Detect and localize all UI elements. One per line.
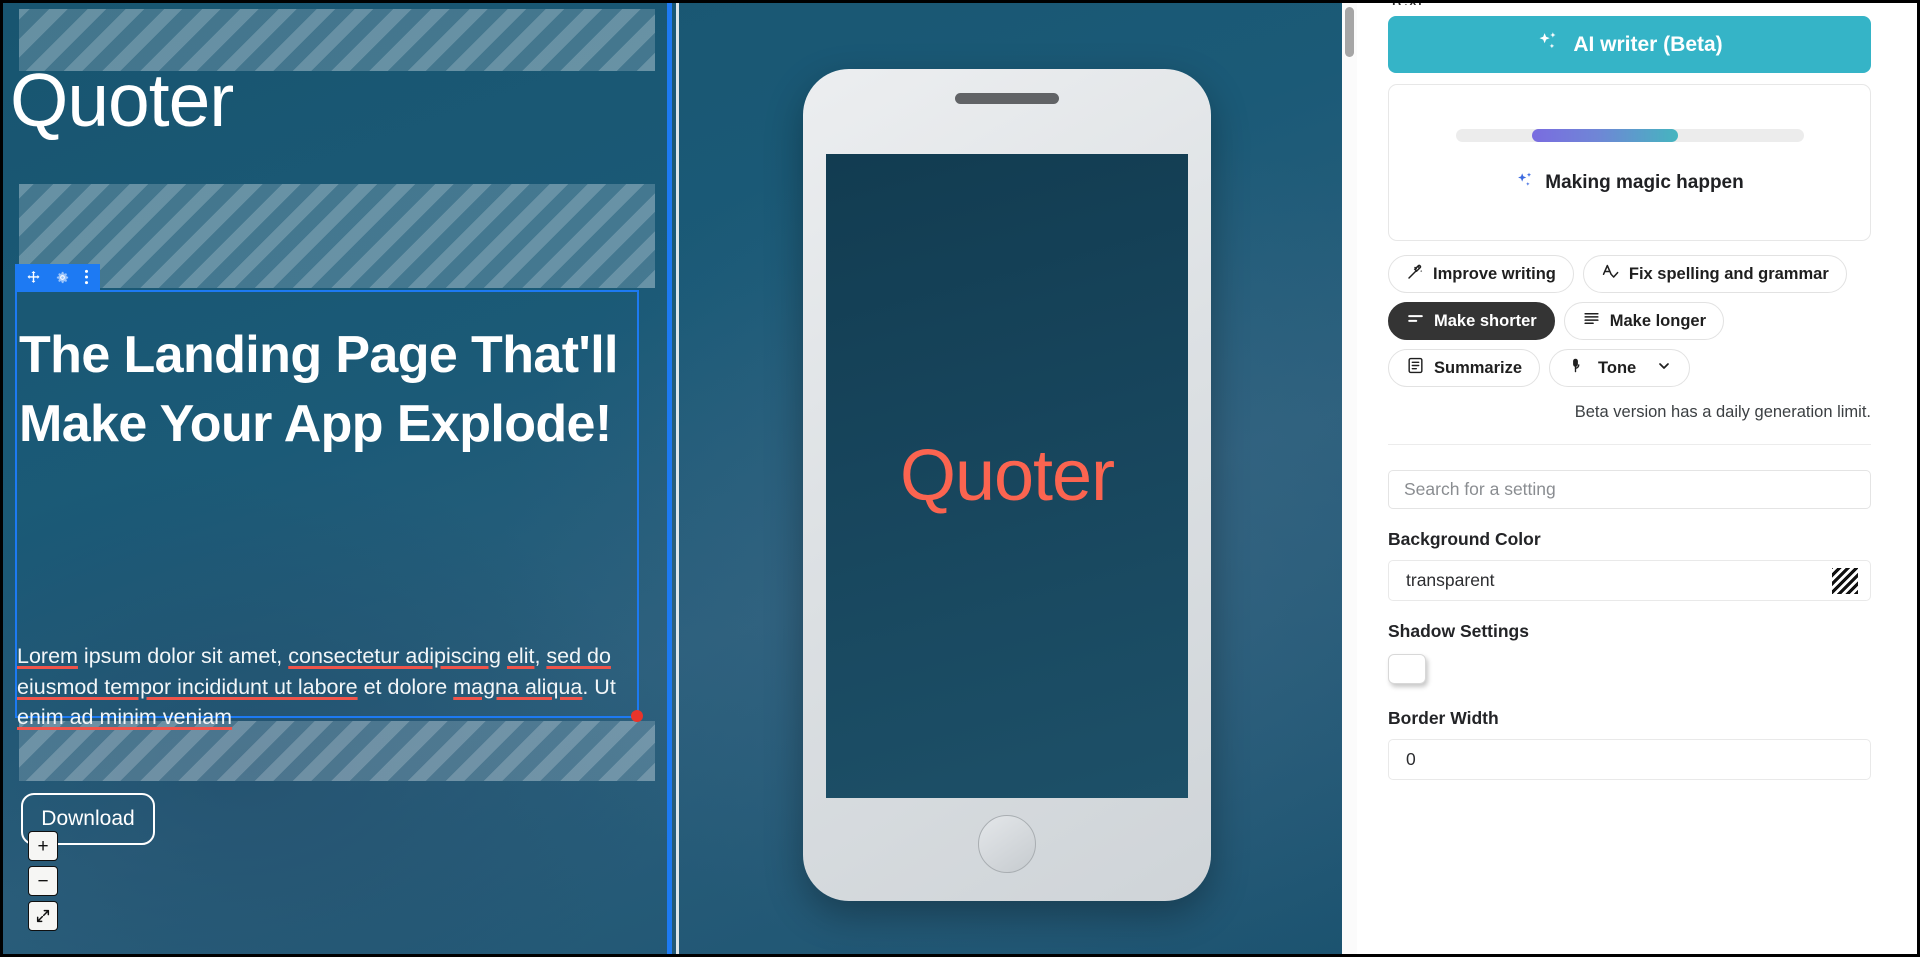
generation-status-label: Making magic happen: [1545, 172, 1743, 194]
border-width-input[interactable]: 0: [1388, 739, 1871, 780]
lengthen-lines-icon: [1582, 309, 1601, 333]
chevron-down-icon[interactable]: [1656, 358, 1672, 379]
phone-screen-title: Quoter: [900, 435, 1114, 517]
chip-make-shorter[interactable]: Make shorter: [1388, 302, 1555, 340]
beta-limit-note: Beta version has a daily generation limi…: [1388, 403, 1871, 422]
spellcheck-underlined-text: eiusmod tempor incididunt ut labore: [17, 675, 358, 699]
panel-section-label: Text: [1388, 0, 1871, 5]
background-color-value: transparent: [1406, 570, 1495, 591]
chip-label: Tone: [1598, 359, 1636, 378]
setting-search-placeholder: Search for a setting: [1404, 479, 1556, 500]
generation-progress-fill: [1532, 129, 1678, 142]
ai-action-chips: Improve writing Fix spelling and grammar: [1388, 255, 1871, 387]
transparent-swatch-icon[interactable]: [1832, 568, 1858, 594]
background-color-input[interactable]: transparent: [1388, 560, 1871, 601]
generation-status: Making magic happen: [1515, 170, 1743, 196]
chip-improve-writing[interactable]: Improve writing: [1388, 255, 1574, 293]
spellcheck-underlined-text: sed do: [546, 644, 611, 668]
spellcheck-underlined-text: magna aliqua: [453, 675, 582, 699]
border-width-value: 0: [1406, 749, 1416, 770]
generation-progress-bar: [1456, 129, 1804, 142]
canvas-scrollbar-thumb[interactable]: [1345, 7, 1354, 57]
zoom-fit-button[interactable]: [28, 901, 58, 931]
spellcheck-underlined-text: Lorem: [17, 644, 78, 668]
zoom-controls[interactable]: + −: [28, 831, 58, 936]
body-text-fragment: ipsum dolor sit amet,: [78, 644, 288, 668]
chip-tone[interactable]: Tone: [1549, 349, 1690, 387]
spellcheck-underlined-text: enim ad minim veniam: [17, 705, 232, 729]
label-border-width: Border Width: [1388, 708, 1871, 729]
gear-icon[interactable]: [55, 270, 70, 285]
body-text-fragment: ,: [534, 644, 546, 668]
chip-label: Fix spelling and grammar: [1629, 265, 1829, 284]
transparent-stripe-band-middle: [19, 184, 655, 288]
body-text-fragment: . Ut: [582, 675, 615, 699]
chip-make-longer[interactable]: Make longer: [1564, 302, 1724, 340]
column-divider-blue: [667, 3, 672, 957]
panel-divider: [1388, 444, 1871, 445]
microphone-icon: [1567, 356, 1584, 380]
canvas-scrollbar[interactable]: [1342, 3, 1357, 957]
more-vertical-icon[interactable]: [84, 269, 89, 285]
sparkles-icon: [1536, 30, 1559, 59]
move-icon[interactable]: [26, 270, 41, 285]
chip-summarize[interactable]: Summarize: [1388, 349, 1540, 387]
column-divider-white: [676, 3, 679, 957]
ai-writer-button[interactable]: AI writer (Beta): [1388, 16, 1871, 73]
phone-screen: Quoter: [826, 154, 1188, 798]
chip-label: Summarize: [1434, 359, 1522, 378]
ai-writer-label: AI writer (Beta): [1573, 33, 1722, 57]
editor-canvas[interactable]: Quoter Quoter: [0, 0, 1357, 957]
shadow-preview-swatch[interactable]: [1388, 654, 1426, 684]
chip-label: Make shorter: [1434, 312, 1537, 331]
chip-label: Make longer: [1610, 312, 1706, 331]
setting-search-input[interactable]: Search for a setting: [1388, 470, 1871, 509]
spellcheck-underlined-text: elit: [507, 644, 534, 668]
spellcheck-underlined-text: consectetur adipiscing: [288, 644, 501, 668]
document-lines-icon: [1406, 356, 1425, 380]
phone-speaker: [955, 93, 1059, 104]
label-background-color: Background Color: [1388, 529, 1871, 550]
chip-label: Improve writing: [1433, 265, 1556, 284]
zoom-in-button[interactable]: +: [28, 831, 58, 861]
app-root: Quoter Quoter: [0, 0, 1920, 957]
chip-fix-spelling-and-grammar[interactable]: Fix spelling and grammar: [1583, 255, 1847, 293]
sparkles-icon: [1515, 170, 1535, 196]
artboard-body-text[interactable]: Lorem ipsum dolor sit amet, consectetur …: [17, 641, 635, 733]
settings-panel: Text AI writer (Beta): [1357, 0, 1920, 957]
body-text-fragment: et dolore: [358, 675, 454, 699]
shorten-lines-icon: [1406, 309, 1425, 333]
selection-toolbar[interactable]: [15, 264, 100, 290]
phone-mockup[interactable]: Quoter: [803, 69, 1211, 901]
zoom-out-button[interactable]: −: [28, 866, 58, 896]
generation-status-card: Making magic happen: [1388, 84, 1871, 241]
magic-wand-icon: [1406, 263, 1424, 286]
label-shadow-settings: Shadow Settings: [1388, 621, 1871, 642]
expand-arrows-icon: [35, 908, 51, 924]
phone-home-button: [978, 815, 1036, 873]
spellcheck-icon: [1601, 262, 1620, 286]
artboard-headline[interactable]: The Landing Page That'll Make Your App E…: [19, 321, 619, 459]
artboard-brand-title[interactable]: Quoter: [10, 63, 233, 138]
